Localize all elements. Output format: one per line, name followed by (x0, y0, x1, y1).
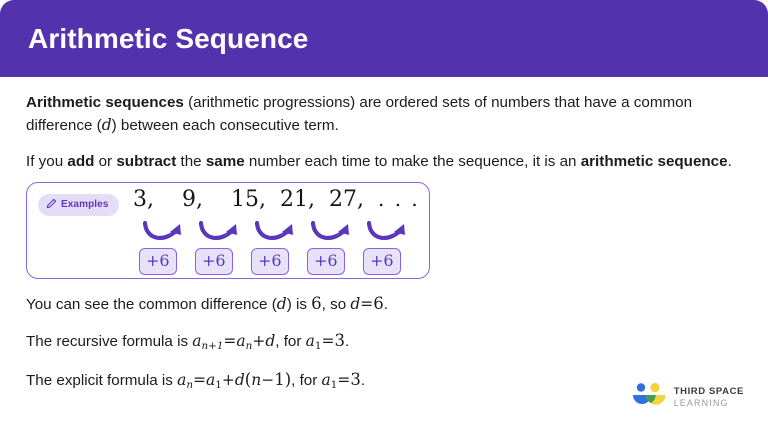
sequence-term: 3, (133, 187, 182, 212)
paragraph-rule-add: add (67, 153, 94, 170)
sequence-numbers: 3, 9, 15, 21, 27, . . . (131, 187, 427, 219)
difference-chip-cell: +6 (195, 248, 251, 275)
third-space-learning-mark-icon (631, 382, 667, 413)
difference-chip-cell: +6 (307, 248, 363, 275)
rf-a-base: a (192, 332, 201, 350)
ef-minus: − (261, 371, 274, 389)
rf-plus: + (252, 332, 265, 350)
rf-a1-base: a (306, 332, 315, 350)
cd-math-6: 6 (311, 294, 322, 313)
paragraph-rule-t2: or (94, 153, 116, 170)
logo-line-2: LEARNING (674, 398, 744, 408)
paragraph-rule-t5: . (728, 153, 732, 170)
rf-t1: The recursive formula is (26, 333, 192, 350)
paragraph-rule: If you add or subtract the same number e… (26, 150, 742, 173)
ef-a1-base2: a (322, 371, 331, 389)
rf-equals: = (223, 332, 236, 350)
sequence-area: 3, 9, 15, 21, 27, . . . (131, 187, 427, 275)
curved-arrow-icon (141, 219, 197, 247)
logo-line-1: THIRD SPACE (674, 387, 744, 398)
sequence-term: 21, (280, 187, 329, 212)
sequence-term: 9, (182, 187, 231, 212)
difference-chip: +6 (363, 248, 401, 275)
page-header: Arithmetic Sequence (0, 0, 768, 77)
paragraph-definition: Arithmetic sequences (arithmetic progres… (26, 91, 742, 138)
difference-chip: +6 (195, 248, 233, 275)
ef-t3: . (361, 372, 365, 389)
sequence-ellipsis: . . . (378, 187, 427, 211)
ef-one: 1 (274, 370, 285, 389)
lesson-card: Arithmetic Sequence Arithmetic sequences… (0, 0, 768, 435)
lesson-body: Arithmetic sequences (arithmetic progres… (0, 77, 768, 393)
difference-chip: +6 (251, 248, 289, 275)
difference-chip: +6 (139, 248, 177, 275)
page-title: Arithmetic Sequence (28, 25, 308, 53)
paragraph-rule-arithmetic-sequence: arithmetic sequence (581, 153, 728, 170)
rf-a-base2: a (236, 332, 245, 350)
math-variable-d: d (102, 116, 112, 134)
difference-chip-cell: +6 (139, 248, 195, 275)
ef-t2: , for (291, 372, 321, 389)
difference-chip-cell: +6 (363, 248, 419, 275)
cd-t2: ) is (287, 296, 311, 313)
common-difference-statement: You can see the common difference (d) is… (26, 293, 742, 316)
recursive-formula-statement: The recursive formula is an+1=an+d, for … (26, 330, 742, 354)
ef-a-base: a (177, 371, 186, 389)
cd-math-value: 6 (373, 294, 384, 313)
ef-a1-base: a (206, 371, 215, 389)
ef-plus: + (222, 371, 235, 389)
ef-equals2: = (337, 371, 350, 389)
rf-a-sub: n+1 (202, 340, 224, 352)
logo-wordmark: THIRD SPACE LEARNING (674, 387, 744, 408)
paragraph-definition-bold-lead: Arithmetic sequences (26, 94, 184, 111)
paragraph-definition-text-b: ) between each consecutive term. (112, 117, 339, 134)
difference-chip-row: +6 +6 +6 +6 +6 (131, 248, 427, 275)
paragraph-rule-t1: If you (26, 153, 67, 170)
ef-d: d (235, 371, 245, 389)
third-space-learning-logo: THIRD SPACE LEARNING (631, 382, 744, 413)
examples-badge-label: Examples (61, 199, 109, 210)
curved-arrow-icon (253, 219, 309, 247)
cd-math-d: d (277, 295, 287, 313)
cd-math-equals: = (360, 295, 373, 313)
sequence-term: 27, (329, 187, 378, 212)
sequence-term: 15, (231, 187, 280, 212)
examples-card: Examples 3, 9, 15, 21, 27, . . . (26, 182, 430, 279)
curved-arrow-icon (197, 219, 253, 247)
rf-t2: , for (275, 333, 305, 350)
ef-value: 3 (350, 370, 361, 389)
ef-a-sub: n (186, 379, 193, 391)
ef-equals: = (193, 371, 206, 389)
cd-t3: , so (322, 296, 351, 313)
paragraph-rule-t4: number each time to make the sequence, i… (245, 153, 581, 170)
cd-math-d2: d (350, 295, 360, 313)
paragraph-rule-t3: the (176, 153, 206, 170)
ef-n: n (251, 371, 261, 389)
difference-arrow-row (131, 219, 427, 247)
pencil-icon (46, 198, 57, 212)
rf-d: d (265, 332, 275, 350)
paragraph-rule-same: same (206, 153, 245, 170)
ef-t1: The explicit formula is (26, 372, 177, 389)
rf-equals2: = (321, 332, 334, 350)
cd-t4: . (384, 296, 388, 313)
difference-chip: +6 (307, 248, 345, 275)
difference-chip-cell: +6 (251, 248, 307, 275)
cd-t1: You can see the common difference ( (26, 296, 277, 313)
rf-t3: . (345, 333, 349, 350)
curved-arrow-icon (309, 219, 365, 247)
examples-badge: Examples (38, 194, 119, 216)
rf-value: 3 (334, 331, 345, 350)
curved-arrow-icon (365, 219, 421, 247)
paragraph-rule-subtract: subtract (116, 153, 176, 170)
ef-a1-sub: 1 (215, 379, 222, 391)
